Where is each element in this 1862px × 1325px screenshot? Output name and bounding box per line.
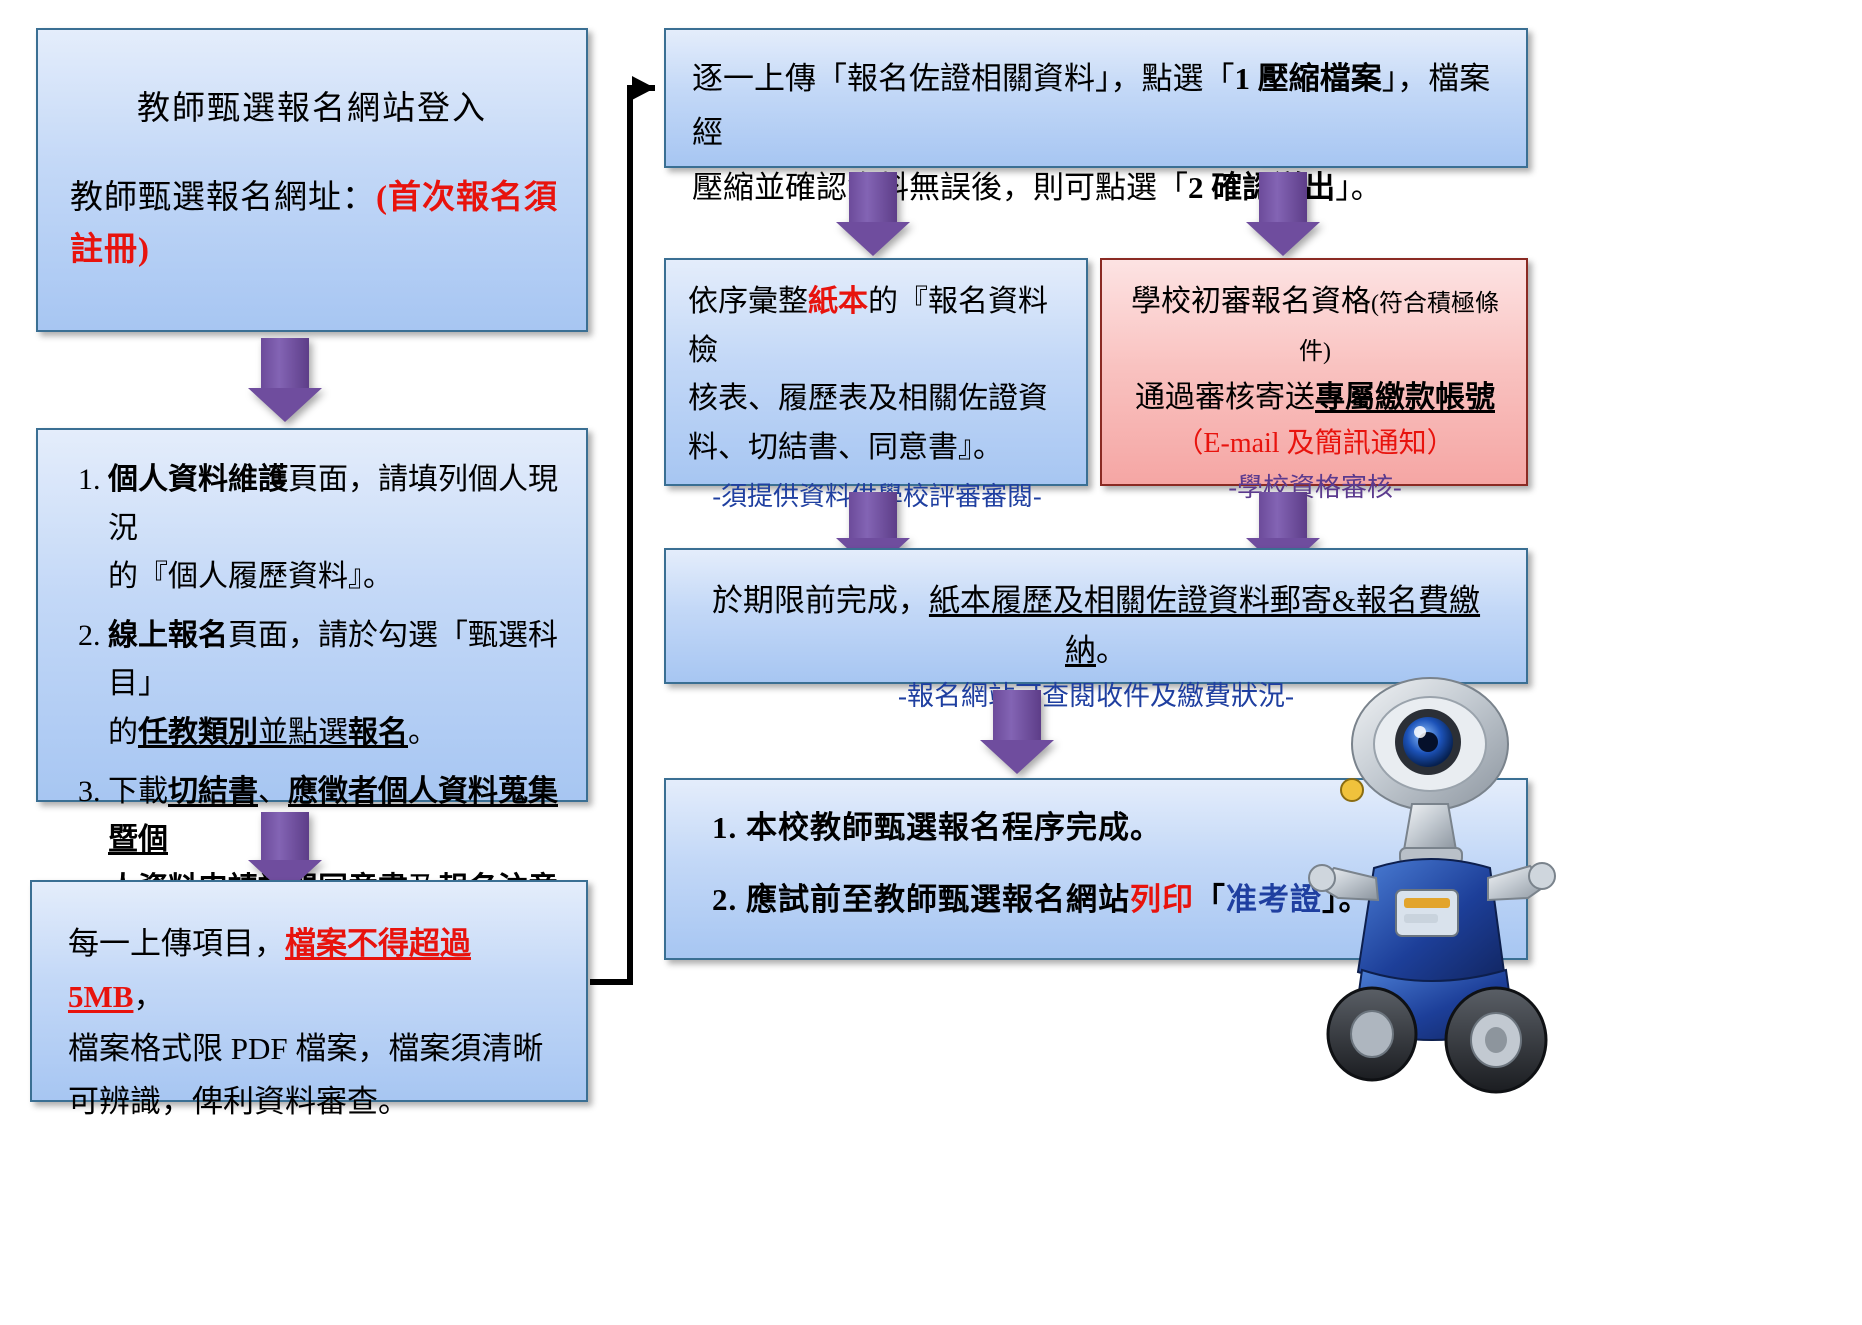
deadline-box: 於期限前完成，紙本履歷及相關佐證資料郵寄&報名費繳納。 -報名網站可查閱收件及繳… [664,548,1528,684]
upload-rule-line1: 每一上傳項目，檔案不得超過 5MB， [68,918,560,1023]
finish-item1-text: 本校教師甄選報名程序完成。 [746,810,1162,845]
upload-rule-line3: 可辨識，俾利資料審查。 [68,1076,560,1129]
upload-rule-pre: 每一上傳項目， [68,926,285,961]
robot-illustration [1300,672,1560,1102]
school-line2: 通過審核寄送專屬繳款帳號 [1118,374,1512,422]
zip-line1-a: 逐一上傳「報名佐證相關資料」，點選「 [692,61,1235,96]
upload-rule-comma: ， [133,979,164,1014]
step2-keyword: 線上報名 [108,619,228,652]
paper-line3: 料、切結書、同意書』。 [688,424,1066,473]
step3-sep: 、 [258,775,288,808]
arrow-zip-to-school [1246,172,1320,256]
school-account-keyword: 專屬繳款帳號 [1315,381,1495,414]
paper-line2: 核表、履歷表及相關佐證資 [688,375,1066,424]
login-box: 教師甄選報名網站登入 教師甄選報名網址：(首次報名須註冊) [36,28,588,332]
upload-rule-line2: 檔案格式限 PDF 檔案，檔案須清晰 [68,1023,560,1076]
step3-pre: 下載 [108,775,168,808]
finish-print-keyword: 列印 [1130,882,1194,917]
step2-line2-pre: 的 [108,716,138,749]
finish-item2-mid: 「 [1194,882,1226,917]
steps-box: 個人資料維護頁面，請填列個人現況 的『個人履歷資料』。 線上報名頁面，請於勾選「… [36,428,588,802]
list-item: 個人資料維護頁面，請填列個人現況 的『個人履歷資料』。 [108,456,564,602]
step2-underline-1: 任教類別 [138,716,258,749]
paper-line1: 依序彙整紙本的『報名資料檢 [688,278,1066,375]
school-line1: 學校初審報名資格(符合積極條件) [1118,278,1512,374]
arrow-deadline-to-finish [980,690,1054,774]
zip-line1: 逐一上傳「報名佐證相關資料」，點選「1 壓縮檔案」，檔案經 [692,52,1500,161]
zip-step1-label: 1 壓縮檔案 [1235,61,1382,96]
school-line1-a: 學校初審報名資格 [1131,285,1371,318]
step2-line2-end: 。 [408,716,438,749]
arrow-login-to-steps [248,338,322,422]
step1-keyword: 個人資料維護 [108,463,288,496]
login-url-line: 教師甄選報名網址：(首次報名須註冊) [64,173,560,275]
step2-line2-mid: 並點選 [258,716,348,749]
list-item: 線上報名頁面，請於勾選「甄選科目」 的任教類別並點選報名。 [108,612,564,758]
school-line2-a: 通過審核寄送 [1135,381,1315,414]
zip-line2-b: 」。 [1335,170,1382,205]
paper-line1-a: 依序彙整 [688,285,808,318]
zip-line2: 壓縮並確認資料無誤後，則可點選「2 確認送出」。 [692,161,1500,215]
school-review-box: 學校初審報名資格(符合積極條件) 通過審核寄送專屬繳款帳號 （E-mail 及簡… [1100,258,1528,486]
deadline-line1-a: 於期限前完成， [712,583,929,618]
school-line3: （E-mail 及簡訊通知） [1118,422,1512,467]
zip-upload-box: 逐一上傳「報名佐證相關資料」，點選「1 壓縮檔案」，檔案經 壓縮並確認資料無誤後… [664,28,1528,168]
deadline-line1: 於期限前完成，紙本履歷及相關佐證資料郵寄&報名費繳納。 [686,576,1506,675]
step1-line2: 的『個人履歷資料』。 [108,560,393,593]
arrow-zip-to-paper [836,172,910,256]
step2-underline-2: 報名 [348,716,408,749]
deadline-underline: 紙本履歷及相關佐證資料郵寄&報名費繳納 [929,583,1480,668]
paper-collation-box: 依序彙整紙本的『報名資料檢 核表、履歷表及相關佐證資 料、切結書、同意書』。 -… [664,258,1088,486]
deadline-line1-b: 。 [1096,633,1127,668]
paper-keyword-red: 紙本 [808,285,868,318]
login-title: 教師甄選報名網站登入 [64,84,560,135]
login-url-label: 教師甄選報名網址： [70,180,376,216]
upload-rule-box: 每一上傳項目，檔案不得超過 5MB， 檔案格式限 PDF 檔案，檔案須清晰 可辨… [30,880,588,1102]
finish-item2-pre: 應試前至教師甄選報名網站 [746,882,1130,917]
step3-underline-1: 切結書 [168,775,258,808]
zip-line2-a: 壓縮並確認資料無誤後，則可點選「 [692,170,1188,205]
